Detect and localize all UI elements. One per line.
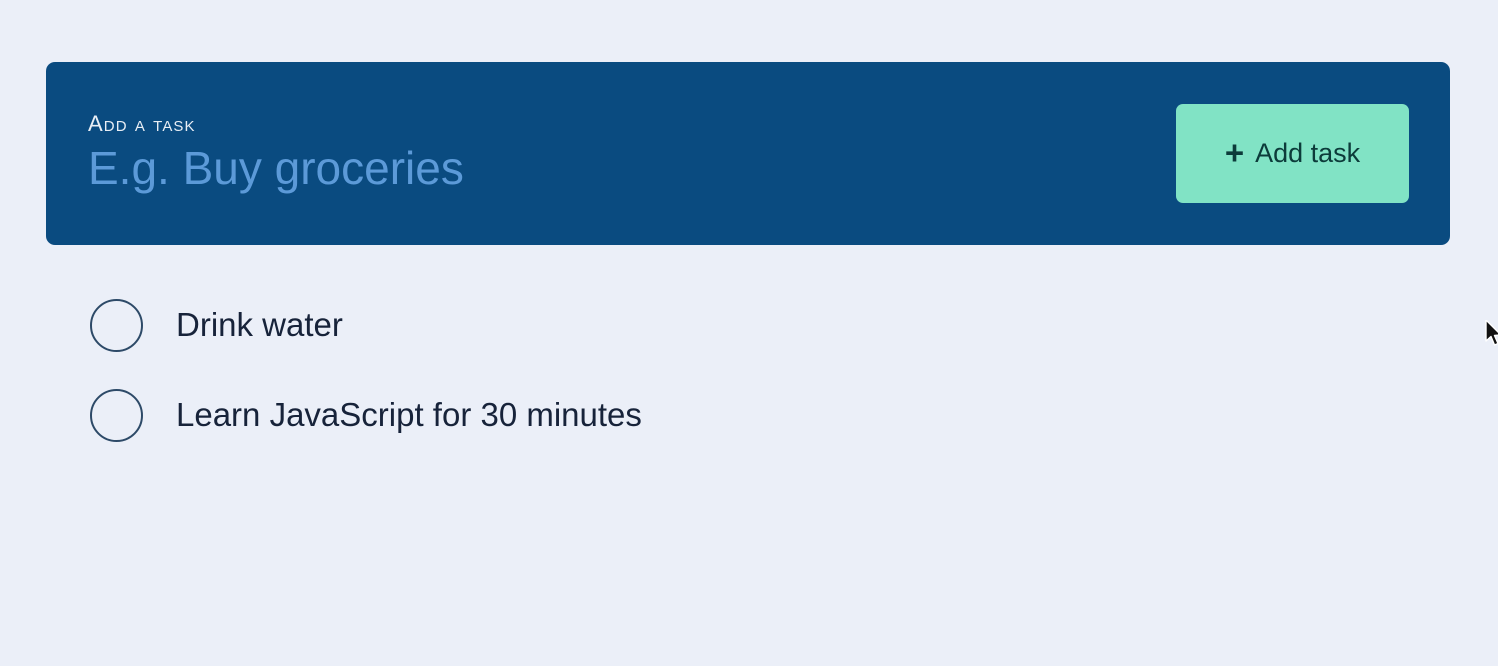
- task-input[interactable]: [88, 144, 1152, 194]
- plus-icon: +: [1225, 136, 1244, 169]
- task-list-item[interactable]: Drink water: [46, 280, 1452, 370]
- task-input-group: Add a task: [88, 113, 1152, 194]
- add-task-label: Add a task: [88, 113, 1152, 135]
- task-checkbox[interactable]: [90, 299, 143, 352]
- add-task-panel: Add a task + Add task: [46, 62, 1450, 245]
- task-label: Drink water: [176, 307, 343, 343]
- add-task-button[interactable]: + Add task: [1176, 104, 1409, 203]
- task-checkbox[interactable]: [90, 389, 143, 442]
- task-label: Learn JavaScript for 30 minutes: [176, 397, 642, 433]
- add-task-button-label: Add task: [1255, 140, 1360, 167]
- add-task-panel-content: Add a task + Add task: [88, 62, 1409, 245]
- task-list: Drink water Learn JavaScript for 30 minu…: [46, 280, 1452, 460]
- mouse-cursor-icon: [1485, 320, 1498, 348]
- task-list-item[interactable]: Learn JavaScript for 30 minutes: [46, 370, 1452, 460]
